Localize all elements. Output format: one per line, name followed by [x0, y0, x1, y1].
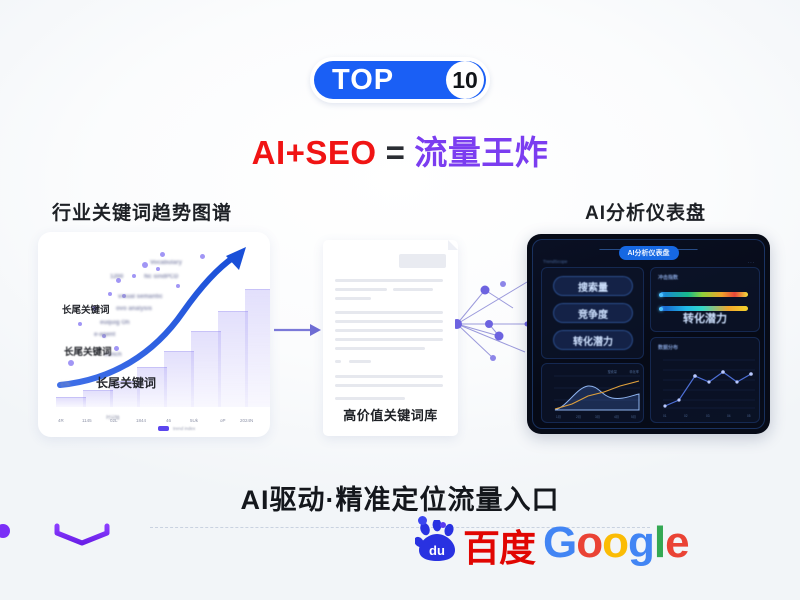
doc-text-line — [335, 311, 443, 314]
dashboard-menu-icon[interactable]: ... — [748, 259, 755, 265]
trend-legend: trend index — [158, 426, 195, 431]
headline-purple-part: 流量王炸 — [414, 134, 548, 171]
trend-blurred-text: euquig Oh — [100, 320, 130, 326]
line-x-tick: 03 — [706, 414, 710, 418]
keyword-library-document-card: 高价值关键词库 — [323, 240, 458, 436]
google-letter-l: l — [654, 518, 665, 567]
graph-node — [495, 332, 504, 341]
dashboard-filter-panel: 搜索量 竞争度 转化潜力 — [541, 267, 644, 359]
doc-text-line — [335, 384, 443, 387]
trend-scatter-dot — [176, 284, 180, 288]
doc-text-line — [335, 375, 443, 378]
trend-x-tick: 1844 — [136, 418, 146, 423]
keyword-trend-chart-card: Vocabulary Nc sindPCD visual semantic ov… — [38, 232, 270, 437]
line-x-tick: 01 — [663, 414, 667, 418]
doc-text-line — [349, 360, 371, 363]
search-engine-logos: du 百度 Google — [415, 520, 689, 566]
right-section-title: AI分析仪表盘 — [585, 198, 706, 225]
ai-dashboard-tablet: AI分析仪表盘 TrendScope ... 搜索量 竞争度 转化潜力 冲击指数… — [527, 234, 770, 434]
filter-pill-search-volume[interactable]: 搜索量 — [553, 276, 633, 296]
decorative-dot — [0, 524, 10, 538]
trend-blurred-text: 1200 — [110, 274, 123, 280]
baidu-wordmark: 百度 — [463, 531, 535, 566]
document-label: 高价值关键词库 — [323, 405, 458, 424]
trend-plot-area: Vocabulary Nc sindPCD visual semantic ov… — [50, 242, 262, 407]
trend-blurred-text: e-agent — [94, 332, 115, 338]
doc-text-line — [335, 329, 443, 332]
trend-keyword-label: 长尾关键词 — [96, 374, 156, 391]
footer-tagline: AI驱动·精准定位流量入口 — [0, 478, 800, 517]
graph-node — [481, 286, 490, 295]
top-rank-badge-body: TOP 10 — [314, 61, 486, 99]
top-rank-badge-number: 10 — [452, 69, 478, 92]
doc-text-line — [335, 297, 371, 300]
decorative-dot — [418, 516, 427, 525]
trend-bar — [83, 390, 113, 407]
dashboard-area-chart-panel: 1月 2月 3月 4月 5月 搜索量 转化率 — [541, 363, 644, 423]
decorative-dot — [440, 522, 446, 528]
dashboard-brand-tag: TrendScope — [543, 259, 567, 264]
area-x-tick: 3月 — [595, 414, 600, 419]
trend-scatter-dot — [108, 292, 112, 296]
trend-keyword-label: 长尾关键词 — [64, 344, 112, 358]
google-letter-g1: G — [543, 518, 576, 567]
area-x-tick: 5月 — [631, 414, 636, 419]
area-x-tick: 2月 — [576, 414, 581, 419]
dashboard-title-badge: AI分析仪表盘 — [619, 246, 679, 260]
doc-text-line — [335, 338, 443, 341]
dashboard-gauge-panel: 冲击指数 转化潜力 — [650, 267, 760, 332]
headline-red-part: AI+SEO — [252, 134, 377, 171]
trend-scatter-dot — [68, 360, 74, 366]
google-letter-g2: g — [628, 518, 654, 567]
line-x-tick: 02 — [684, 414, 688, 418]
trend-x-tick: oP — [220, 418, 226, 423]
trend-x-axis-label: 时间轴 — [106, 415, 120, 421]
graph-node — [490, 355, 496, 361]
trend-blurred-text: ovo analysis — [116, 306, 152, 312]
area-x-tick: 1月 — [556, 414, 561, 419]
headline-equals: = — [386, 134, 406, 171]
slide-canvas: TOP 10 AI+SEO=流量王炸 行业关键词趋势图谱 AI分析仪表盘 — [0, 0, 800, 600]
trend-keyword-label: 长尾关键词 — [62, 302, 110, 316]
google-letter-o1: o — [576, 518, 602, 567]
baidu-logo: du 百度 — [415, 520, 535, 566]
line-x-tick: 05 — [747, 414, 751, 418]
trend-scatter-dot — [78, 322, 82, 326]
gauge-knob[interactable] — [659, 293, 663, 297]
left-section-title: 行业关键词趋势图谱 — [52, 198, 232, 225]
trend-scatter-dot — [160, 252, 165, 257]
google-letter-o2: o — [602, 518, 628, 567]
line-chart — [651, 338, 761, 424]
trend-blurred-text: visual semantic — [118, 294, 163, 300]
flow-arrow-icon — [274, 322, 322, 338]
filter-pill-competition[interactable]: 竞争度 — [553, 303, 633, 323]
line-x-tick: 04 — [727, 414, 731, 418]
baidu-paw-icon: du — [415, 520, 461, 566]
top-rank-badge-circle: 10 — [446, 61, 484, 99]
trend-blurred-text: Nc sindPCD — [144, 274, 178, 280]
svg-text:du: du — [429, 543, 445, 558]
doc-text-line — [393, 288, 433, 291]
trend-blurred-text: Vocabulary — [150, 260, 182, 266]
top-rank-badge: TOP 10 — [310, 57, 490, 103]
doc-text-line — [335, 397, 405, 400]
trend-x-tick: 2024N — [240, 418, 253, 423]
area-x-tick: 4月 — [614, 414, 619, 419]
trend-x-tick: 1145 — [82, 418, 92, 423]
trend-bar — [56, 397, 86, 407]
trend-x-tick: 4R — [58, 418, 64, 423]
trend-legend-label: trend index — [173, 426, 195, 431]
dashboard-screen: AI分析仪表盘 TrendScope ... 搜索量 竞争度 转化潜力 冲击指数… — [532, 239, 765, 429]
trend-legend-swatch — [158, 426, 169, 431]
gauge-panel-heading: 冲击指数 — [658, 274, 678, 281]
gauge-caption: 转化潜力 — [651, 310, 759, 326]
area-legend-2: 转化率 — [629, 369, 639, 374]
google-letter-e: e — [665, 518, 688, 567]
top-rank-badge-label: TOP — [332, 66, 394, 95]
area-legend-1: 搜索量 — [607, 369, 617, 374]
doc-text-line — [335, 320, 443, 323]
page-title: AI+SEO=流量王炸 — [0, 126, 800, 174]
trend-scatter-dot — [156, 267, 160, 271]
doc-header-block — [399, 254, 446, 268]
filter-pill-conversion-potential[interactable]: 转化潜力 — [553, 330, 633, 350]
trend-blurred-text: 175 — [60, 382, 70, 388]
google-logo: Google — [543, 521, 689, 565]
trend-scatter-dot — [114, 346, 119, 351]
graph-node — [500, 281, 506, 287]
doc-text-line — [335, 288, 387, 291]
graph-node — [485, 320, 493, 328]
trend-scatter-dot — [142, 262, 148, 268]
bar-chart-pedestal-icon — [52, 486, 112, 548]
doc-text-line — [335, 279, 443, 282]
network-graph-icon — [455, 278, 535, 368]
trend-x-tick: 5Uk — [190, 418, 198, 423]
doc-text-line — [335, 347, 425, 350]
trend-scatter-dot — [200, 254, 205, 259]
dashboard-line-chart-panel: 数据分布 — [650, 337, 760, 423]
gauge-bar-competition — [660, 292, 748, 297]
doc-bullet — [335, 360, 341, 363]
trend-scatter-dot — [132, 274, 136, 278]
trend-x-tick: 46 — [166, 418, 171, 423]
